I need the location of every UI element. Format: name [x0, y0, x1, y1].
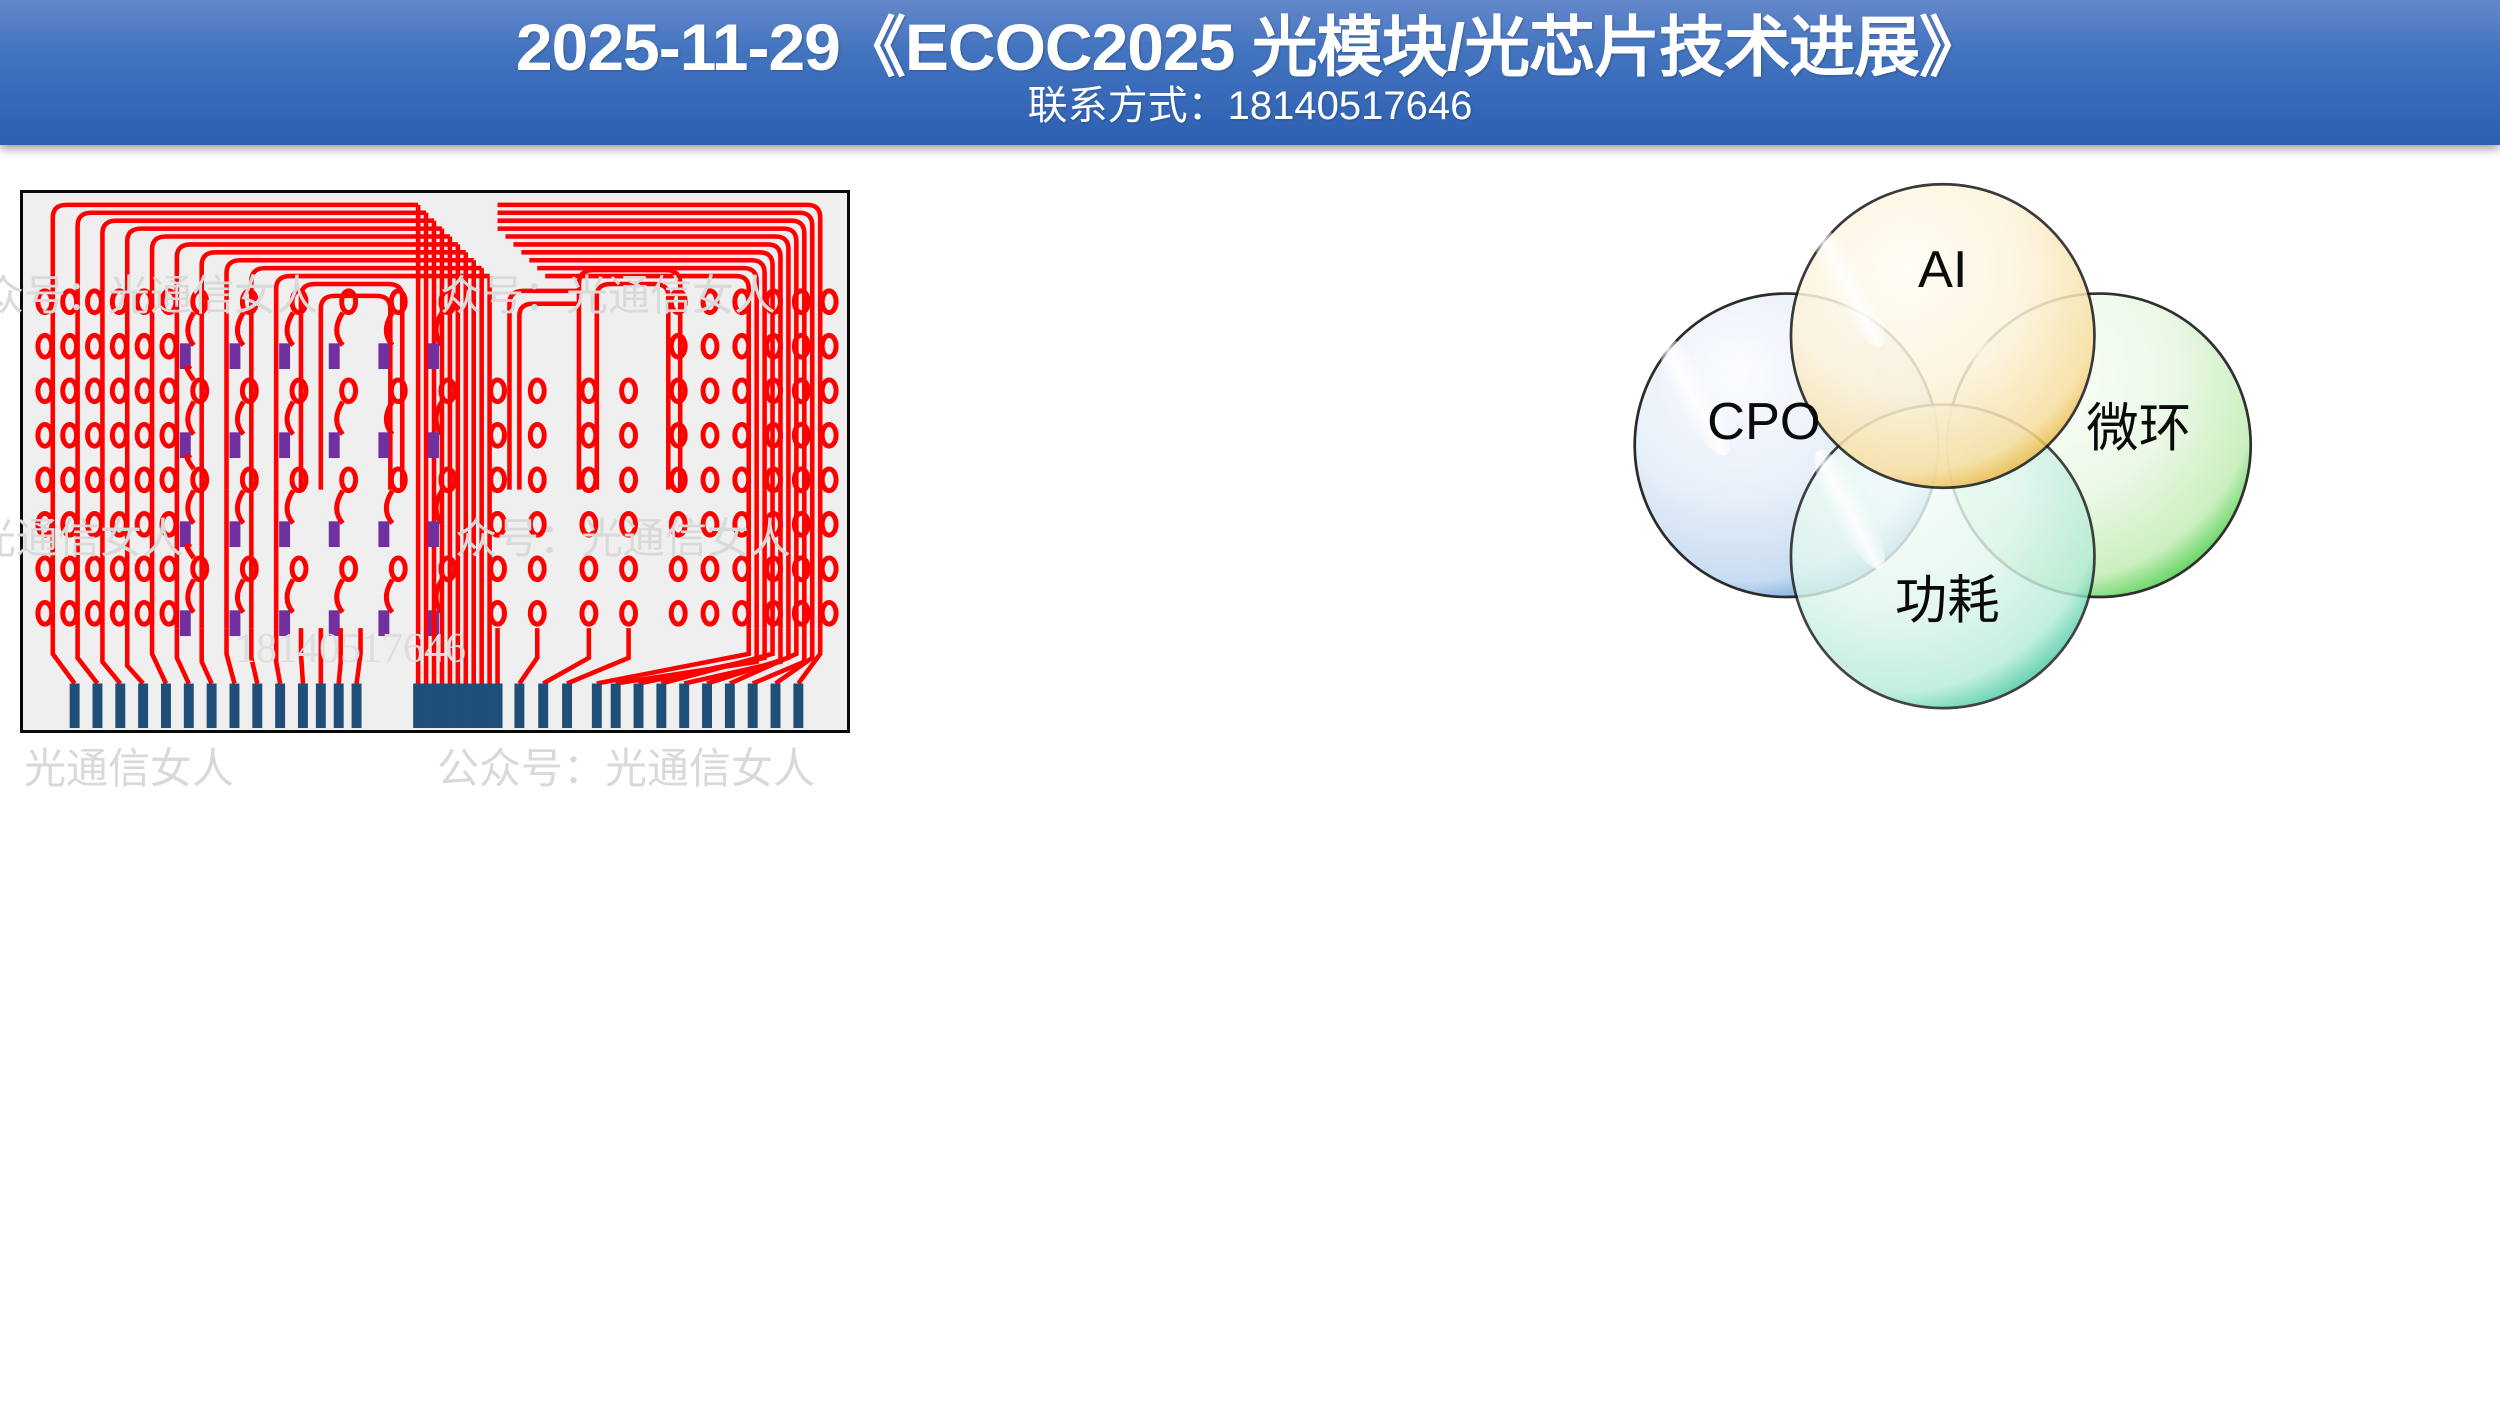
pcb-trace-routing-diagram [20, 190, 850, 733]
watermark-text: 公众号：光通信女人 [437, 735, 815, 796]
venn-label-ai: AI [1918, 241, 1968, 299]
page-title: 2025-11-29《ECOC2025 光模块/光芯片技术进展》 [0, 12, 2500, 83]
venn-label-power: 功耗 [1895, 572, 2000, 630]
slide-header-banner: 2025-11-29《ECOC2025 光模块/光芯片技术进展》 联系方式：18… [0, 0, 2500, 145]
venn-label-microring: 微环 [2086, 400, 2191, 458]
contact-subtitle: 联系方式：18140517646 [0, 85, 2500, 127]
pcb-svg [23, 193, 847, 730]
venn-svg: AI CPO 微环 功耗 [1400, 168, 2480, 728]
watermark-text: 号：光通信女人 [0, 735, 234, 796]
slide-root: 2025-11-29《ECOC2025 光模块/光芯片技术进展》 联系方式：18… [0, 0, 2500, 1406]
venn-circle-ai[interactable] [1791, 184, 2094, 487]
four-circle-venn-diagram: AI CPO 微环 功耗 [1400, 168, 2480, 728]
venn-label-cpo: CPO [1707, 393, 1821, 451]
